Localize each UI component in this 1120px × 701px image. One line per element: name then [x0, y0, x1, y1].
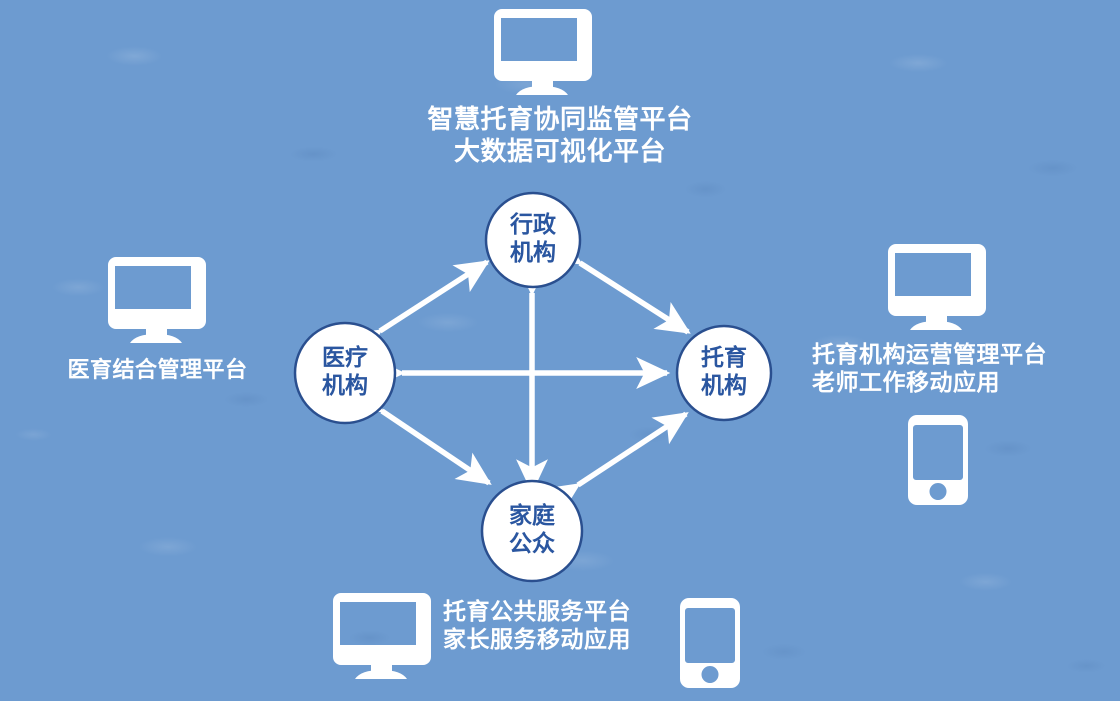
- mobile-phone-icon: [908, 415, 968, 505]
- node-label-admin-line2: 机构: [510, 239, 556, 265]
- desktop-monitor-icon: [108, 253, 206, 343]
- node-label-admin-line1: 行政: [509, 211, 557, 237]
- title-block-label: 智慧托育协同监管平台 大数据可视化平台: [0, 104, 1120, 167]
- node-label-medical-line2: 机构: [322, 372, 368, 398]
- right-label-line-1: 托育机构运营管理平台: [812, 340, 1112, 368]
- node-label-medical-line1: 医疗: [322, 344, 368, 370]
- node-label-childcare-line2: 机构: [701, 372, 747, 398]
- title-line-1: 智慧托育协同监管平台: [0, 104, 1120, 136]
- desktop-monitor-icon: [333, 589, 431, 679]
- node-label-family-line2: 公众: [509, 530, 555, 556]
- desktop-monitor-icon: [888, 240, 986, 330]
- right-platform-label: 托育机构运营管理平台 老师工作移动应用: [812, 340, 1112, 396]
- connection-admin-childcare: [580, 263, 688, 332]
- connection-medical-family: [382, 411, 489, 483]
- connection-family-childcare: [578, 414, 686, 485]
- bottom-platform-label: 托育公共服务平台 家长服务移动应用: [443, 597, 693, 653]
- bottom-label-line-2: 家长服务移动应用: [443, 625, 693, 653]
- left-platform-label: 医育结合管理平台: [20, 357, 295, 384]
- left-label-line-1: 医育结合管理平台: [20, 357, 295, 384]
- bottom-label-line-1: 托育公共服务平台: [443, 597, 693, 625]
- title-line-2: 大数据可视化平台: [0, 136, 1120, 168]
- node-label-family-line1: 家庭: [509, 502, 555, 528]
- connection-medical-admin: [380, 262, 487, 331]
- right-label-line-2: 老师工作移动应用: [812, 368, 1112, 396]
- desktop-monitor-icon: [494, 5, 592, 95]
- connection-lines: [380, 262, 688, 490]
- node-label-childcare-line1: 托育: [701, 344, 747, 370]
